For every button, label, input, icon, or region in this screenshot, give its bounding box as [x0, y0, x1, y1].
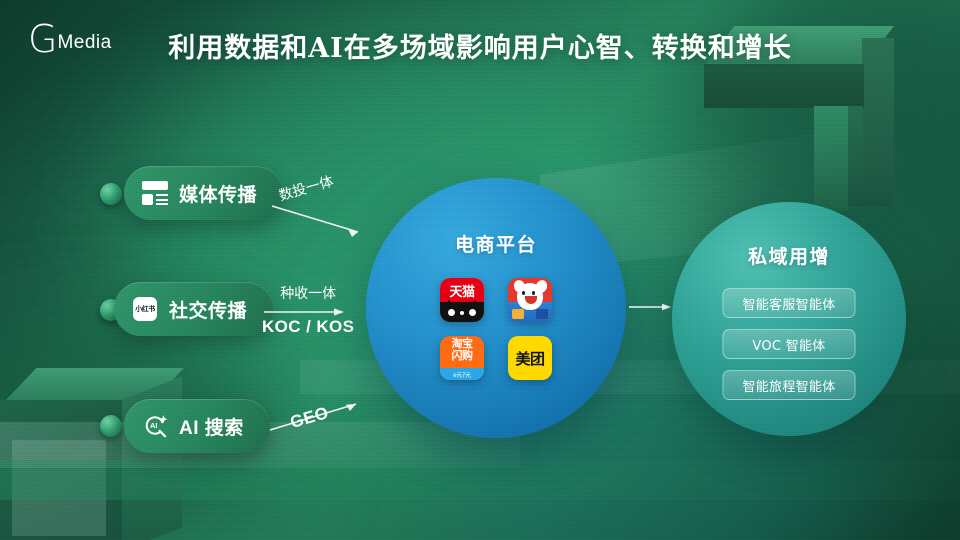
app-icon-jd[interactable]: [508, 278, 552, 322]
ecommerce-title: 电商平台: [366, 230, 626, 257]
channel-pill-aisearch[interactable]: AI AI 搜索: [124, 399, 270, 453]
app-icon-meituan[interactable]: 美团: [508, 336, 552, 380]
app-icon-taobao-shangou[interactable]: 淘宝 闪购 e元7元: [440, 336, 484, 380]
channel-label-social: 社交传播: [169, 296, 247, 323]
agent-chip-list: 智能客服智能体 VOC 智能体 智能旅程智能体: [723, 288, 856, 400]
arrow-ecommerce-to-private: [628, 300, 678, 314]
app-icon-tmall-label: 天猫: [440, 278, 484, 302]
ecommerce-platform-circle[interactable]: 电商平台 天猫 淘宝 闪购 e元7元 美团: [366, 178, 626, 438]
annotation-aisearch: GEO: [278, 396, 329, 428]
annotation-media: 数投一体: [276, 178, 334, 198]
svg-text:AI: AI: [150, 421, 158, 430]
social-app-tile-icon: 小红书: [132, 296, 158, 322]
private-domain-title: 私域用增: [672, 242, 906, 269]
channel-label-aisearch: AI 搜索: [179, 413, 244, 440]
ai-search-icon: AI: [142, 413, 168, 439]
agent-chip[interactable]: VOC 智能体: [723, 329, 856, 359]
app-icon-taobao-strip: e元7元: [440, 368, 484, 380]
private-domain-circle[interactable]: 私域用增 智能客服智能体 VOC 智能体 智能旅程智能体: [672, 202, 906, 436]
arrow-social-to-ecommerce: [262, 305, 354, 319]
channel-label-media: 媒体传播: [179, 180, 257, 207]
channel-pill-social[interactable]: 小红书 社交传播: [114, 282, 273, 336]
agent-chip[interactable]: 智能旅程智能体: [723, 370, 856, 400]
media-layout-icon: [142, 180, 168, 206]
annotation-social: 种收一体 KOC / KOS: [262, 283, 354, 337]
arrow-media-to-ecommerce: [270, 200, 374, 240]
annotation-caption2-social: KOC / KOS: [262, 317, 354, 337]
decor-3d-block: [0, 368, 234, 540]
node-dot-aisearch: [100, 415, 122, 437]
annotation-caption-social: 种收一体: [262, 283, 354, 303]
social-icon-text: 小红书: [133, 297, 157, 321]
channel-pill-media[interactable]: 媒体传播: [124, 166, 283, 220]
app-icon-meituan-label: 美团: [515, 348, 544, 369]
agent-chip[interactable]: 智能客服智能体: [723, 288, 856, 318]
app-icon-tmall[interactable]: 天猫: [440, 278, 484, 322]
ecommerce-app-list: 天猫 淘宝 闪购 e元7元 美团: [440, 278, 552, 380]
slide-canvas: G Media 利用数据和AI在多场域影响用户心智、转换和增长 媒体传播 数投一…: [0, 0, 960, 540]
node-dot-media: [100, 183, 122, 205]
app-icon-taobao-line1: 淘宝: [440, 339, 484, 350]
page-title: 利用数据和AI在多场域影响用户心智、转换和增长: [0, 26, 960, 65]
app-icon-taobao-line2: 闪购: [440, 351, 484, 362]
decor-band-2: [0, 460, 960, 500]
